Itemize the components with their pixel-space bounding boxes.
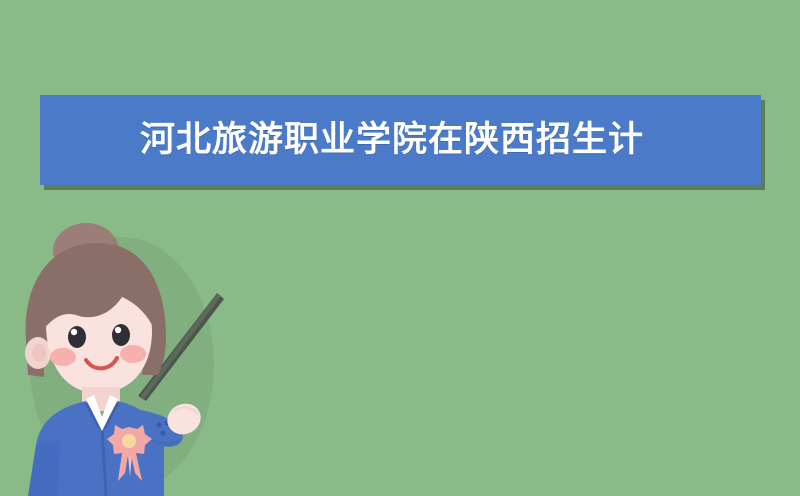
ear-icon (25, 337, 51, 369)
blush-right (120, 345, 146, 363)
blush-left (50, 348, 76, 366)
title-banner: 河北旅游职业学院在陕西招生计 (40, 95, 761, 185)
poster-canvas: 河北旅游职业学院在陕西招生计 (0, 0, 800, 496)
eye-left (68, 326, 86, 348)
eye-right (112, 324, 130, 346)
jacket-shadow-left (28, 439, 60, 496)
badge-center (122, 434, 136, 448)
page-title: 河北旅游职业学院在陕西招生计 (140, 123, 644, 158)
teacher-illustration (14, 215, 254, 496)
